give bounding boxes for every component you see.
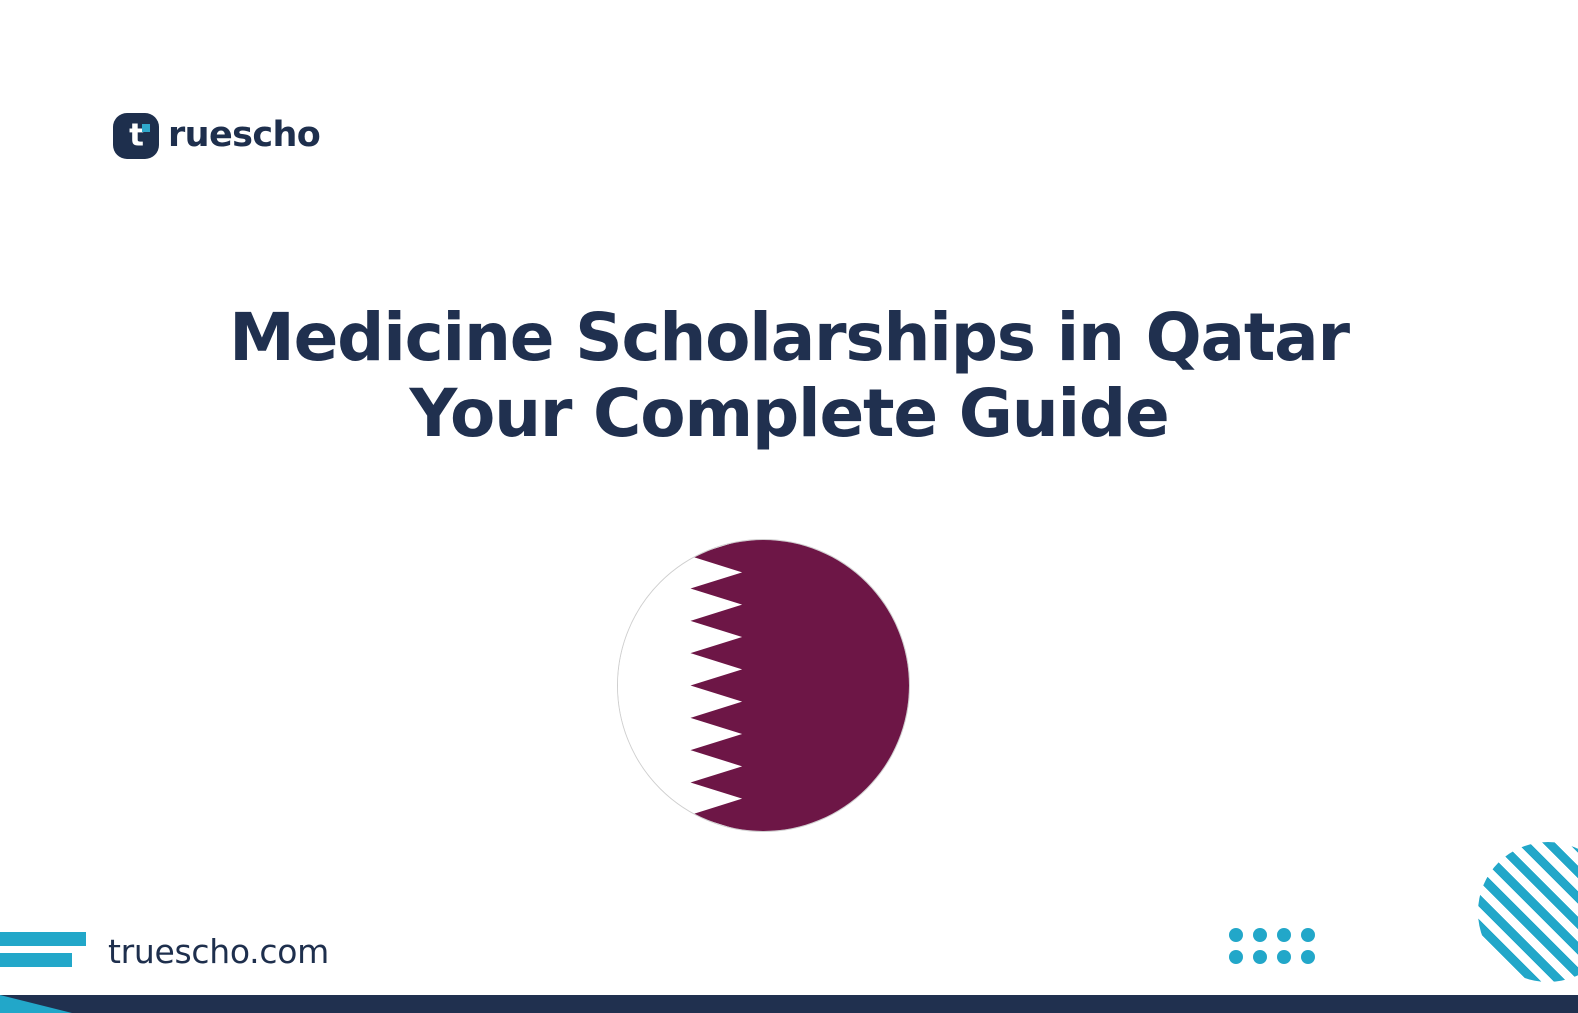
logo-accent-square-icon bbox=[142, 124, 150, 132]
dot bbox=[1253, 950, 1267, 964]
footer-website-url[interactable]: truescho.com bbox=[108, 932, 329, 972]
slide-canvas: t ruescho Medicine Scholarships in Qatar… bbox=[0, 0, 1578, 1013]
striped-circle-decoration bbox=[1478, 842, 1578, 982]
bottom-accent-band bbox=[0, 995, 1578, 1013]
dot bbox=[1277, 950, 1291, 964]
dot bbox=[1301, 928, 1315, 942]
page-title-line-1: Medicine Scholarships in Qatar bbox=[0, 300, 1578, 376]
page-title-line-2: Your Complete Guide bbox=[0, 376, 1578, 452]
bottom-accent-band-navy bbox=[0, 995, 1578, 1013]
brand-wordmark: ruescho bbox=[168, 118, 320, 153]
footer-accent-bar-top bbox=[0, 932, 86, 946]
brand-logo[interactable]: t ruescho bbox=[113, 113, 320, 159]
dot bbox=[1301, 950, 1315, 964]
dot bbox=[1229, 928, 1243, 942]
dot-grid-decoration bbox=[1229, 928, 1315, 964]
dot bbox=[1277, 928, 1291, 942]
footer-accent-bars bbox=[0, 932, 86, 974]
dot bbox=[1253, 928, 1267, 942]
page-title: Medicine Scholarships in Qatar Your Comp… bbox=[0, 300, 1578, 452]
truescho-logo-icon: t bbox=[113, 113, 159, 159]
logo-letter-t: t bbox=[113, 121, 159, 152]
dot bbox=[1229, 950, 1243, 964]
qatar-flag-icon bbox=[617, 539, 910, 832]
footer-accent-bar-bottom bbox=[0, 953, 72, 967]
